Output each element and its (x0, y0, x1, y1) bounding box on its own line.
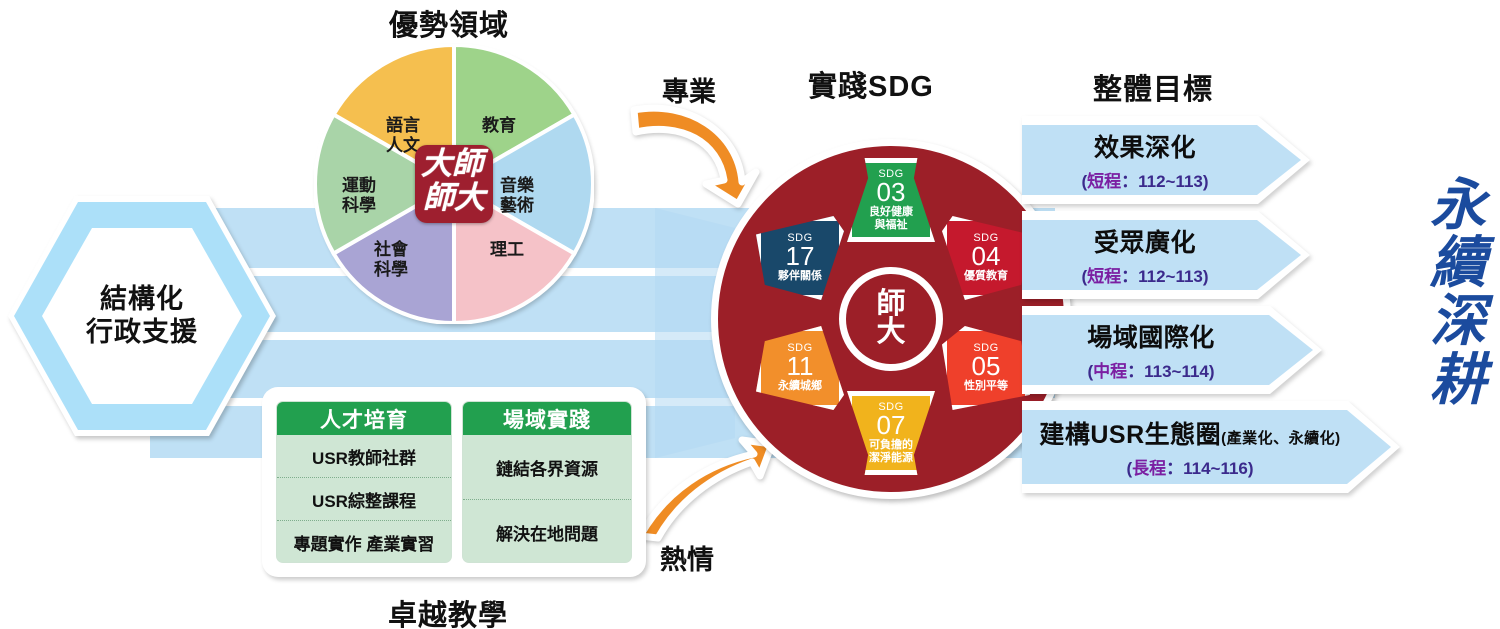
sustainable-deep-cultivation-calligraphy: 永 續 深 耕 (1422, 176, 1494, 409)
sdg-number-17: 17 (786, 243, 815, 269)
goal-arrow-2[interactable]: 場域國際化 (中程：113~114) (1022, 306, 1322, 394)
goal-arrow-text-1: 受眾廣化 (短程：112~113) (1040, 211, 1250, 299)
goal-sep-1: ： (1121, 267, 1138, 286)
sdg-number-11: 11 (787, 353, 814, 379)
sdg-name-17: 夥伴關係 (778, 270, 822, 282)
logo-text-top: 大師 (421, 149, 483, 180)
goal-phase-0: 短程 (1087, 172, 1121, 191)
goal-arrow-text-0: 效果深化 (短程：112~113) (1040, 116, 1250, 204)
table-cell-1-0: 鏈結各界資源 (463, 435, 631, 500)
passion-arrow-icon (630, 432, 775, 542)
wheel-center-line1: 師 (876, 291, 905, 319)
goal-title-0: 效果深化 (1094, 128, 1196, 164)
admin-support-hexagon: 結構化 行政支援 (8, 196, 276, 436)
goal-title-2: 場域國際化 (1087, 318, 1215, 354)
goal-phase-3: 長程 (1132, 459, 1166, 478)
heading-strength-domain: 優勢領域 (389, 2, 509, 44)
goal-sub-2: (中程：113~114) (1087, 357, 1214, 382)
sdg-number-07: 07 (877, 412, 906, 438)
table-column-0: 人才培育 USR教師社群 USR綜整課程 專題實作 產業實習 (276, 401, 452, 563)
callig-char-1: 續 (1430, 234, 1486, 292)
teaching-table-card: 人才培育 USR教師社群 USR綜整課程 專題實作 產業實習 場域實踐 鏈結各界… (262, 387, 646, 577)
goal-sep-3: ： (1166, 459, 1183, 478)
logo-text-bottom: 師大 (423, 183, 485, 214)
goal-arrow-text-2: 場域國際化 (中程：113~114) (1040, 306, 1262, 394)
sdg-name-03: 良好健康與福祉 (869, 206, 913, 231)
table-cell-0-1: USR綜整課程 (277, 478, 451, 521)
sdg-name-04: 優質教育 (964, 270, 1008, 282)
sdg-name-07: 可負擔的潔淨能源 (869, 439, 913, 464)
sdg-shield-07: SDG07可負擔的潔淨能源 (847, 391, 935, 475)
goal-sub-3: (長程：114~116) (1126, 454, 1253, 479)
hexagon-line-1: 結構化 (100, 283, 184, 316)
goal-title-text-3: 建構USR生態圈 (1039, 421, 1221, 449)
goal-sub-0: (短程：112~113) (1081, 167, 1208, 192)
goal-arrow-3[interactable]: 建構USR生態圈(產業化、永續化) (長程：114~116) (1022, 401, 1400, 493)
callig-char-2: 深 (1430, 292, 1486, 350)
goal-phase-2: 中程 (1093, 362, 1127, 381)
sdg-number-05: 05 (972, 353, 1001, 379)
sdg-shield-17: SDG17夥伴關係 (756, 216, 844, 300)
goal-arrow-1[interactable]: 受眾廣化 (短程：112~113) (1022, 211, 1310, 299)
goal-sub-1: (短程：112~113) (1081, 262, 1208, 287)
goal-title-text-2: 場域國際化 (1087, 324, 1215, 352)
goal-sep-2: ： (1127, 362, 1144, 381)
goal-years-0: 112~113 (1138, 172, 1203, 191)
pie-label-4: 運動科學 (342, 176, 376, 216)
heading-excellent-teaching: 卓越教學 (388, 592, 508, 629)
pie-label-1: 音樂藝術 (500, 176, 534, 216)
professional-arrow-icon (626, 98, 766, 208)
goal-phase-1: 短程 (1087, 267, 1121, 286)
heading-practice-sdg: 實踐SDG (808, 63, 934, 105)
callig-char-0: 永 (1430, 176, 1486, 234)
sdg-name-05: 性別平等 (964, 380, 1008, 392)
pie-label-0: 教育 (482, 116, 516, 136)
label-passion: 熱情 (660, 538, 714, 577)
ntnu-logo: 大師 師大 (415, 145, 493, 223)
goal-title-1: 受眾廣化 (1094, 223, 1196, 259)
table-cell-0-0: USR教師社群 (277, 435, 451, 478)
sdg-number-04: 04 (972, 243, 1001, 269)
table-cell-1-1: 解決在地問題 (463, 500, 631, 563)
sdg-wheel: 師 大 SDG03良好健康與福祉 SDG04優質教育 SDG05性別平等 SDG… (711, 139, 1071, 499)
goal-note-3: (產業化、永續化) (1221, 430, 1341, 447)
goal-years-1: 112~113 (1138, 267, 1203, 286)
sdg-shield-05: SDG05性別平等 (942, 326, 1030, 410)
infographic-canvas: 優勢領域 實踐SDG 整體目標 卓越教學 專業 熱情 結構化 行政支援 教育 音… (0, 0, 1500, 629)
table-column-1: 場域實踐 鏈結各界資源 解決在地問題 (462, 401, 632, 563)
goal-title-text-1: 受眾廣化 (1094, 229, 1196, 257)
pie-label-5: 語言人文 (386, 116, 420, 156)
sdg-shield-03: SDG03良好健康與福祉 (847, 158, 935, 242)
pie-label-2: 理工 (490, 240, 524, 260)
goal-years-2: 113~114 (1144, 362, 1209, 381)
wheel-center-line2: 大 (876, 319, 905, 347)
table-header-1: 場域實踐 (463, 402, 631, 435)
hexagon-line-2: 行政支援 (86, 316, 198, 349)
goal-title-3: 建構USR生態圈(產業化、永續化) (1039, 415, 1340, 451)
goal-title-text-0: 效果深化 (1094, 134, 1196, 162)
table-cell-0-2: 專題實作 產業實習 (277, 521, 451, 563)
callig-char-3: 耕 (1430, 351, 1486, 409)
sdg-shield-04: SDG04優質教育 (942, 216, 1030, 300)
heading-overall-goal: 整體目標 (1093, 66, 1213, 108)
sdg-name-11: 永續城鄉 (778, 380, 822, 392)
sdg-shield-11: SDG11永續城鄉 (756, 326, 844, 410)
table-header-0: 人才培育 (277, 402, 451, 435)
wheel-center-logo: 師 大 (839, 267, 943, 371)
goal-years-3: 114~116 (1183, 459, 1248, 478)
goal-arrow-text-3: 建構USR生態圈(產業化、永續化) (長程：114~116) (1036, 401, 1344, 493)
strength-domain-pie: 教育 音樂藝術 理工 社會科學 運動科學 語言人文 大師 師大 (314, 44, 594, 324)
goal-arrow-0[interactable]: 效果深化 (短程：112~113) (1022, 116, 1310, 204)
sdg-number-03: 03 (877, 179, 906, 205)
pie-label-3: 社會科學 (374, 240, 408, 280)
goal-sep-0: ： (1121, 172, 1138, 191)
